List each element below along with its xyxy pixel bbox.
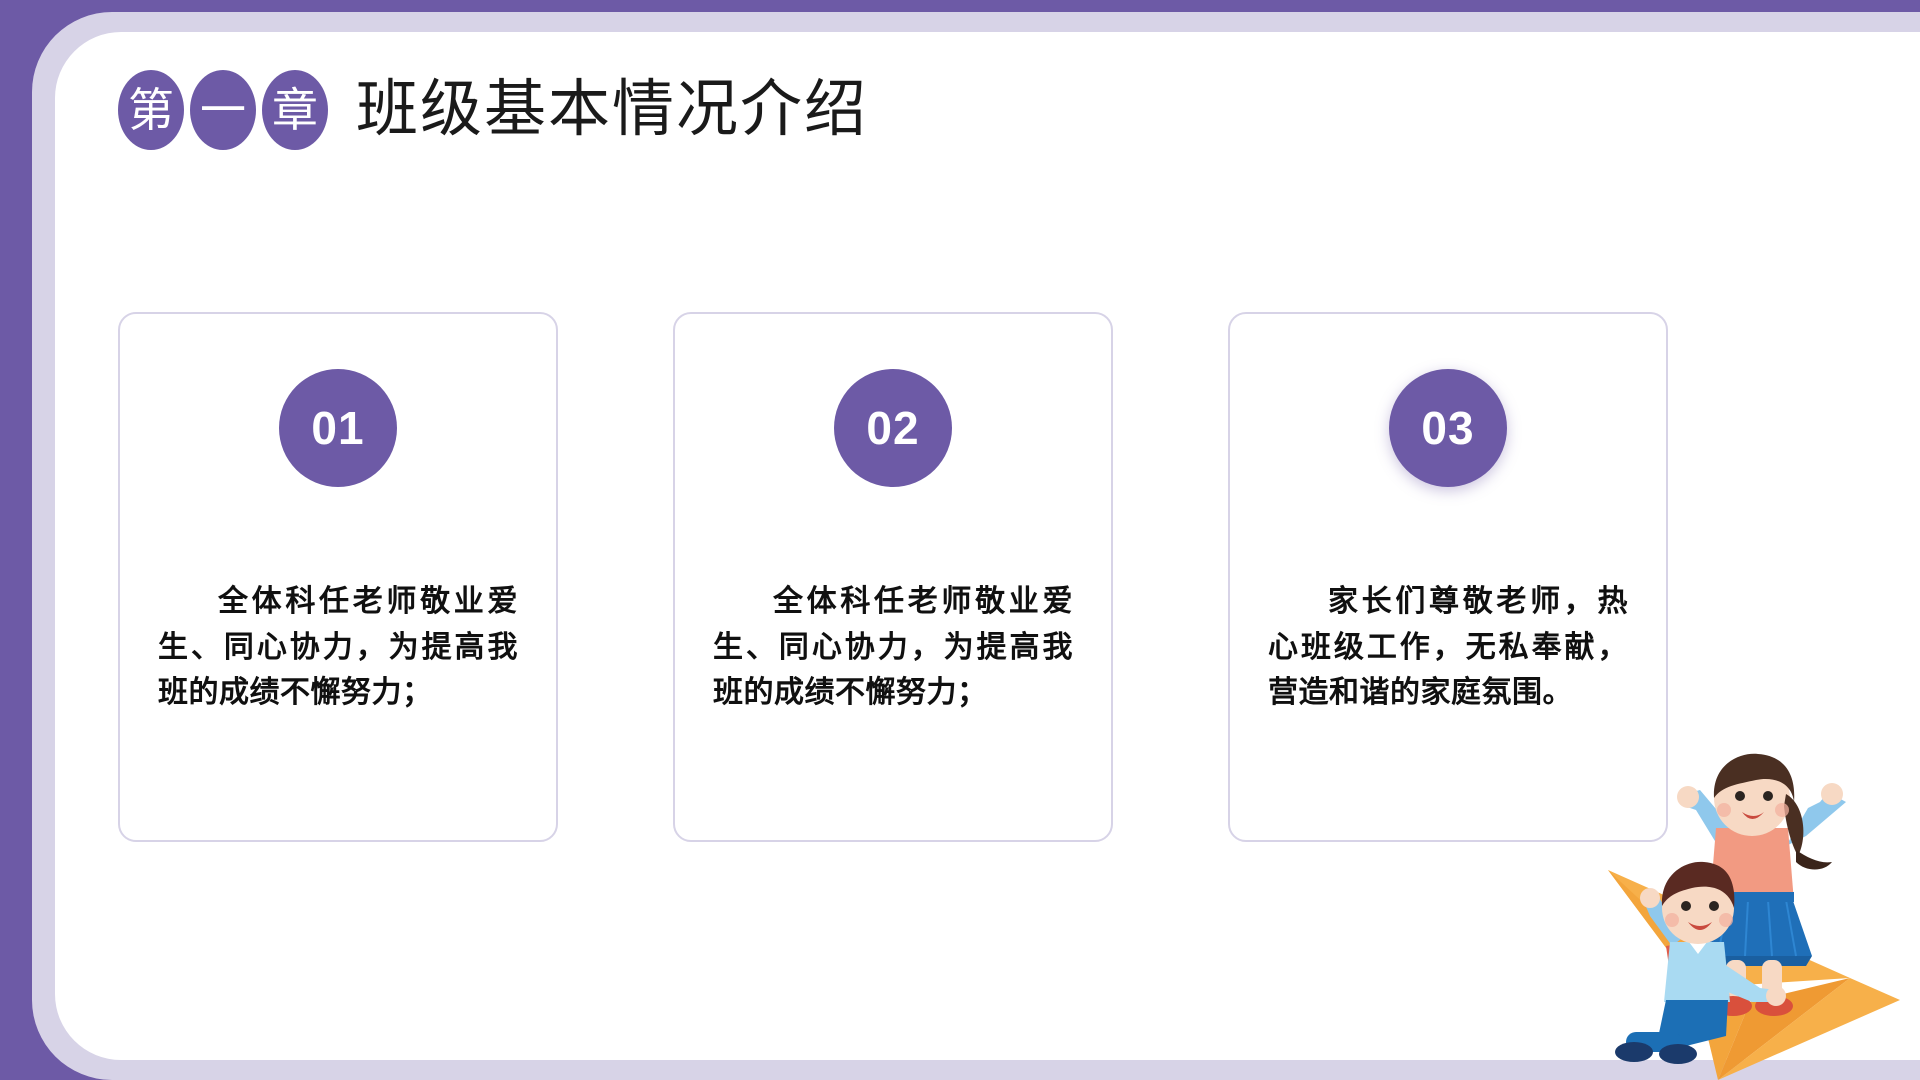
card-body-text: 全体科任老师敬业爱生、同心协力，为提高我班的成绩不懈努力； — [158, 579, 518, 716]
card-body-text: 家长们尊敬老师，热心班级工作，无私奉献，营造和谐的家庭氛围。 — [1268, 579, 1628, 716]
info-card[interactable]: 03 家长们尊敬老师，热心班级工作，无私奉献，营造和谐的家庭氛围。 — [1228, 312, 1668, 842]
slide-header: 第 一 章 班级基本情况介绍 — [118, 62, 868, 158]
slide-root: 第 一 章 班级基本情况介绍 01 全体科任老师敬业爱生、同心协力，为提高我班的… — [0, 0, 1920, 1080]
chapter-badge-3: 章 — [262, 70, 328, 150]
info-card[interactable]: 02 全体科任老师敬业爱生、同心协力，为提高我班的成绩不懈努力； — [673, 312, 1113, 842]
chapter-badge-1: 第 — [118, 70, 184, 150]
card-number-badge: 01 — [279, 369, 397, 487]
chapter-badge-group: 第 一 章 — [118, 70, 328, 150]
info-card-list: 01 全体科任老师敬业爱生、同心协力，为提高我班的成绩不懈努力； 02 全体科任… — [118, 312, 1808, 842]
page-title: 班级基本情况介绍 — [356, 79, 868, 141]
card-number-badge: 02 — [834, 369, 952, 487]
chapter-badge-2: 一 — [190, 70, 256, 150]
info-card[interactable]: 01 全体科任老师敬业爱生、同心协力，为提高我班的成绩不懈努力； — [118, 312, 558, 842]
slide-white-panel: 第 一 章 班级基本情况介绍 01 全体科任老师敬业爱生、同心协力，为提高我班的… — [55, 32, 1920, 1060]
card-number-badge: 03 — [1389, 369, 1507, 487]
card-body-text: 全体科任老师敬业爱生、同心协力，为提高我班的成绩不懈努力； — [713, 579, 1073, 716]
